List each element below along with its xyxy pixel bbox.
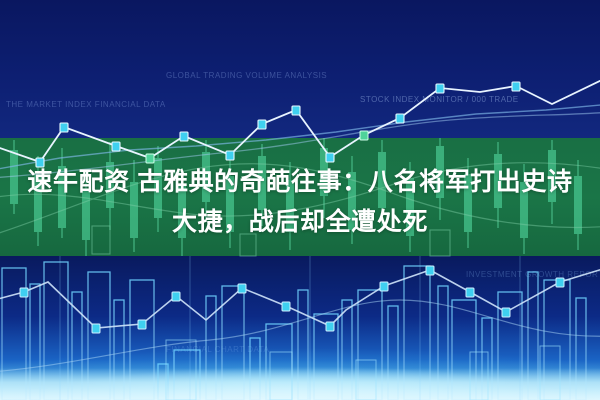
promo-banner: THE MARKET INDEX FINANCIAL DATA GLOBAL T… [0, 0, 600, 400]
headline-line-1: 速牛配资 古雅典的奇葩往事：八名将军打出史诗 [0, 162, 600, 202]
headline-line-2: 大捷，战后却全遭处死 [0, 202, 600, 242]
headline: 速牛配资 古雅典的奇葩往事：八名将军打出史诗 大捷，战后却全遭处死 [0, 162, 600, 242]
